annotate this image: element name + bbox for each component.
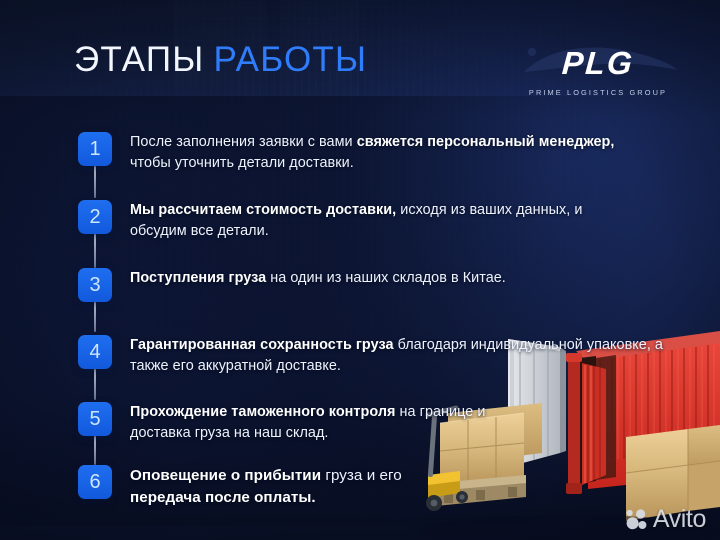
step-connector-3	[94, 302, 96, 332]
step-segment-bold: Поступления груза	[130, 270, 266, 286]
step-segment-bold: Прохождение таможенного контроля	[130, 404, 396, 420]
avito-label: Avito	[653, 507, 706, 532]
step-text: Прохождение таможенного контроля на гран…	[130, 402, 530, 444]
step-text: После заполнения заявки с вами свяжется …	[130, 132, 638, 174]
step-segment: на один из наших складов в Китае.	[266, 270, 506, 286]
steps-list: 1 После заполнения заявки с вами свяжетс…	[0, 0, 720, 540]
step-segment-bold: свяжется персональный менеджер,	[357, 134, 615, 150]
avito-watermark: Avito	[626, 507, 706, 532]
step-item-1[interactable]: 1 После заполнения заявки с вами свяжетс…	[78, 132, 638, 174]
step-text: Поступления груза на один из наших склад…	[130, 268, 506, 289]
step-text: Мы рассчитаем стоимость доставки, исходя…	[130, 200, 638, 242]
step-number-badge: 5	[78, 402, 112, 436]
avito-dots-icon	[626, 509, 648, 531]
step-item-3[interactable]: 3 Поступления груза на один из наших скл…	[78, 268, 506, 302]
step-number-badge: 3	[78, 268, 112, 302]
step-item-4[interactable]: 4 Гарантированная сохранность груза благ…	[78, 335, 666, 377]
step-segment: чтобы уточнить детали доставки.	[130, 155, 354, 171]
step-segment: груза и его	[325, 467, 401, 484]
step-text: Оповещение о прибытии груза и его переда…	[130, 465, 460, 509]
step-item-6[interactable]: 6 Оповещение о прибытии груза и его пере…	[78, 465, 460, 509]
step-number-badge: 4	[78, 335, 112, 369]
step-segment-bold: Мы рассчитаем стоимость доставки,	[130, 202, 396, 218]
step-segment-bold: Гарантированная сохранность груза	[130, 337, 394, 353]
step-number-badge: 1	[78, 132, 112, 166]
poster-root: ЭТАПЫРАБОТЫ PLG PRIME LOGISTICS GROUP 1 …	[0, 0, 720, 540]
step-segment: После заполнения заявки с вами	[130, 134, 357, 150]
step-number-badge: 6	[78, 465, 112, 499]
step-text: Гарантированная сохранность груза благод…	[130, 335, 666, 377]
step-segment-bold: передача после оплаты.	[130, 489, 316, 506]
step-item-2[interactable]: 2 Мы рассчитаем стоимость доставки, исхо…	[78, 200, 638, 242]
step-item-5[interactable]: 5 Прохождение таможенного контроля на гр…	[78, 402, 530, 444]
step-number-badge: 2	[78, 200, 112, 234]
step-segment-bold: Оповещение о прибытии	[130, 467, 325, 484]
